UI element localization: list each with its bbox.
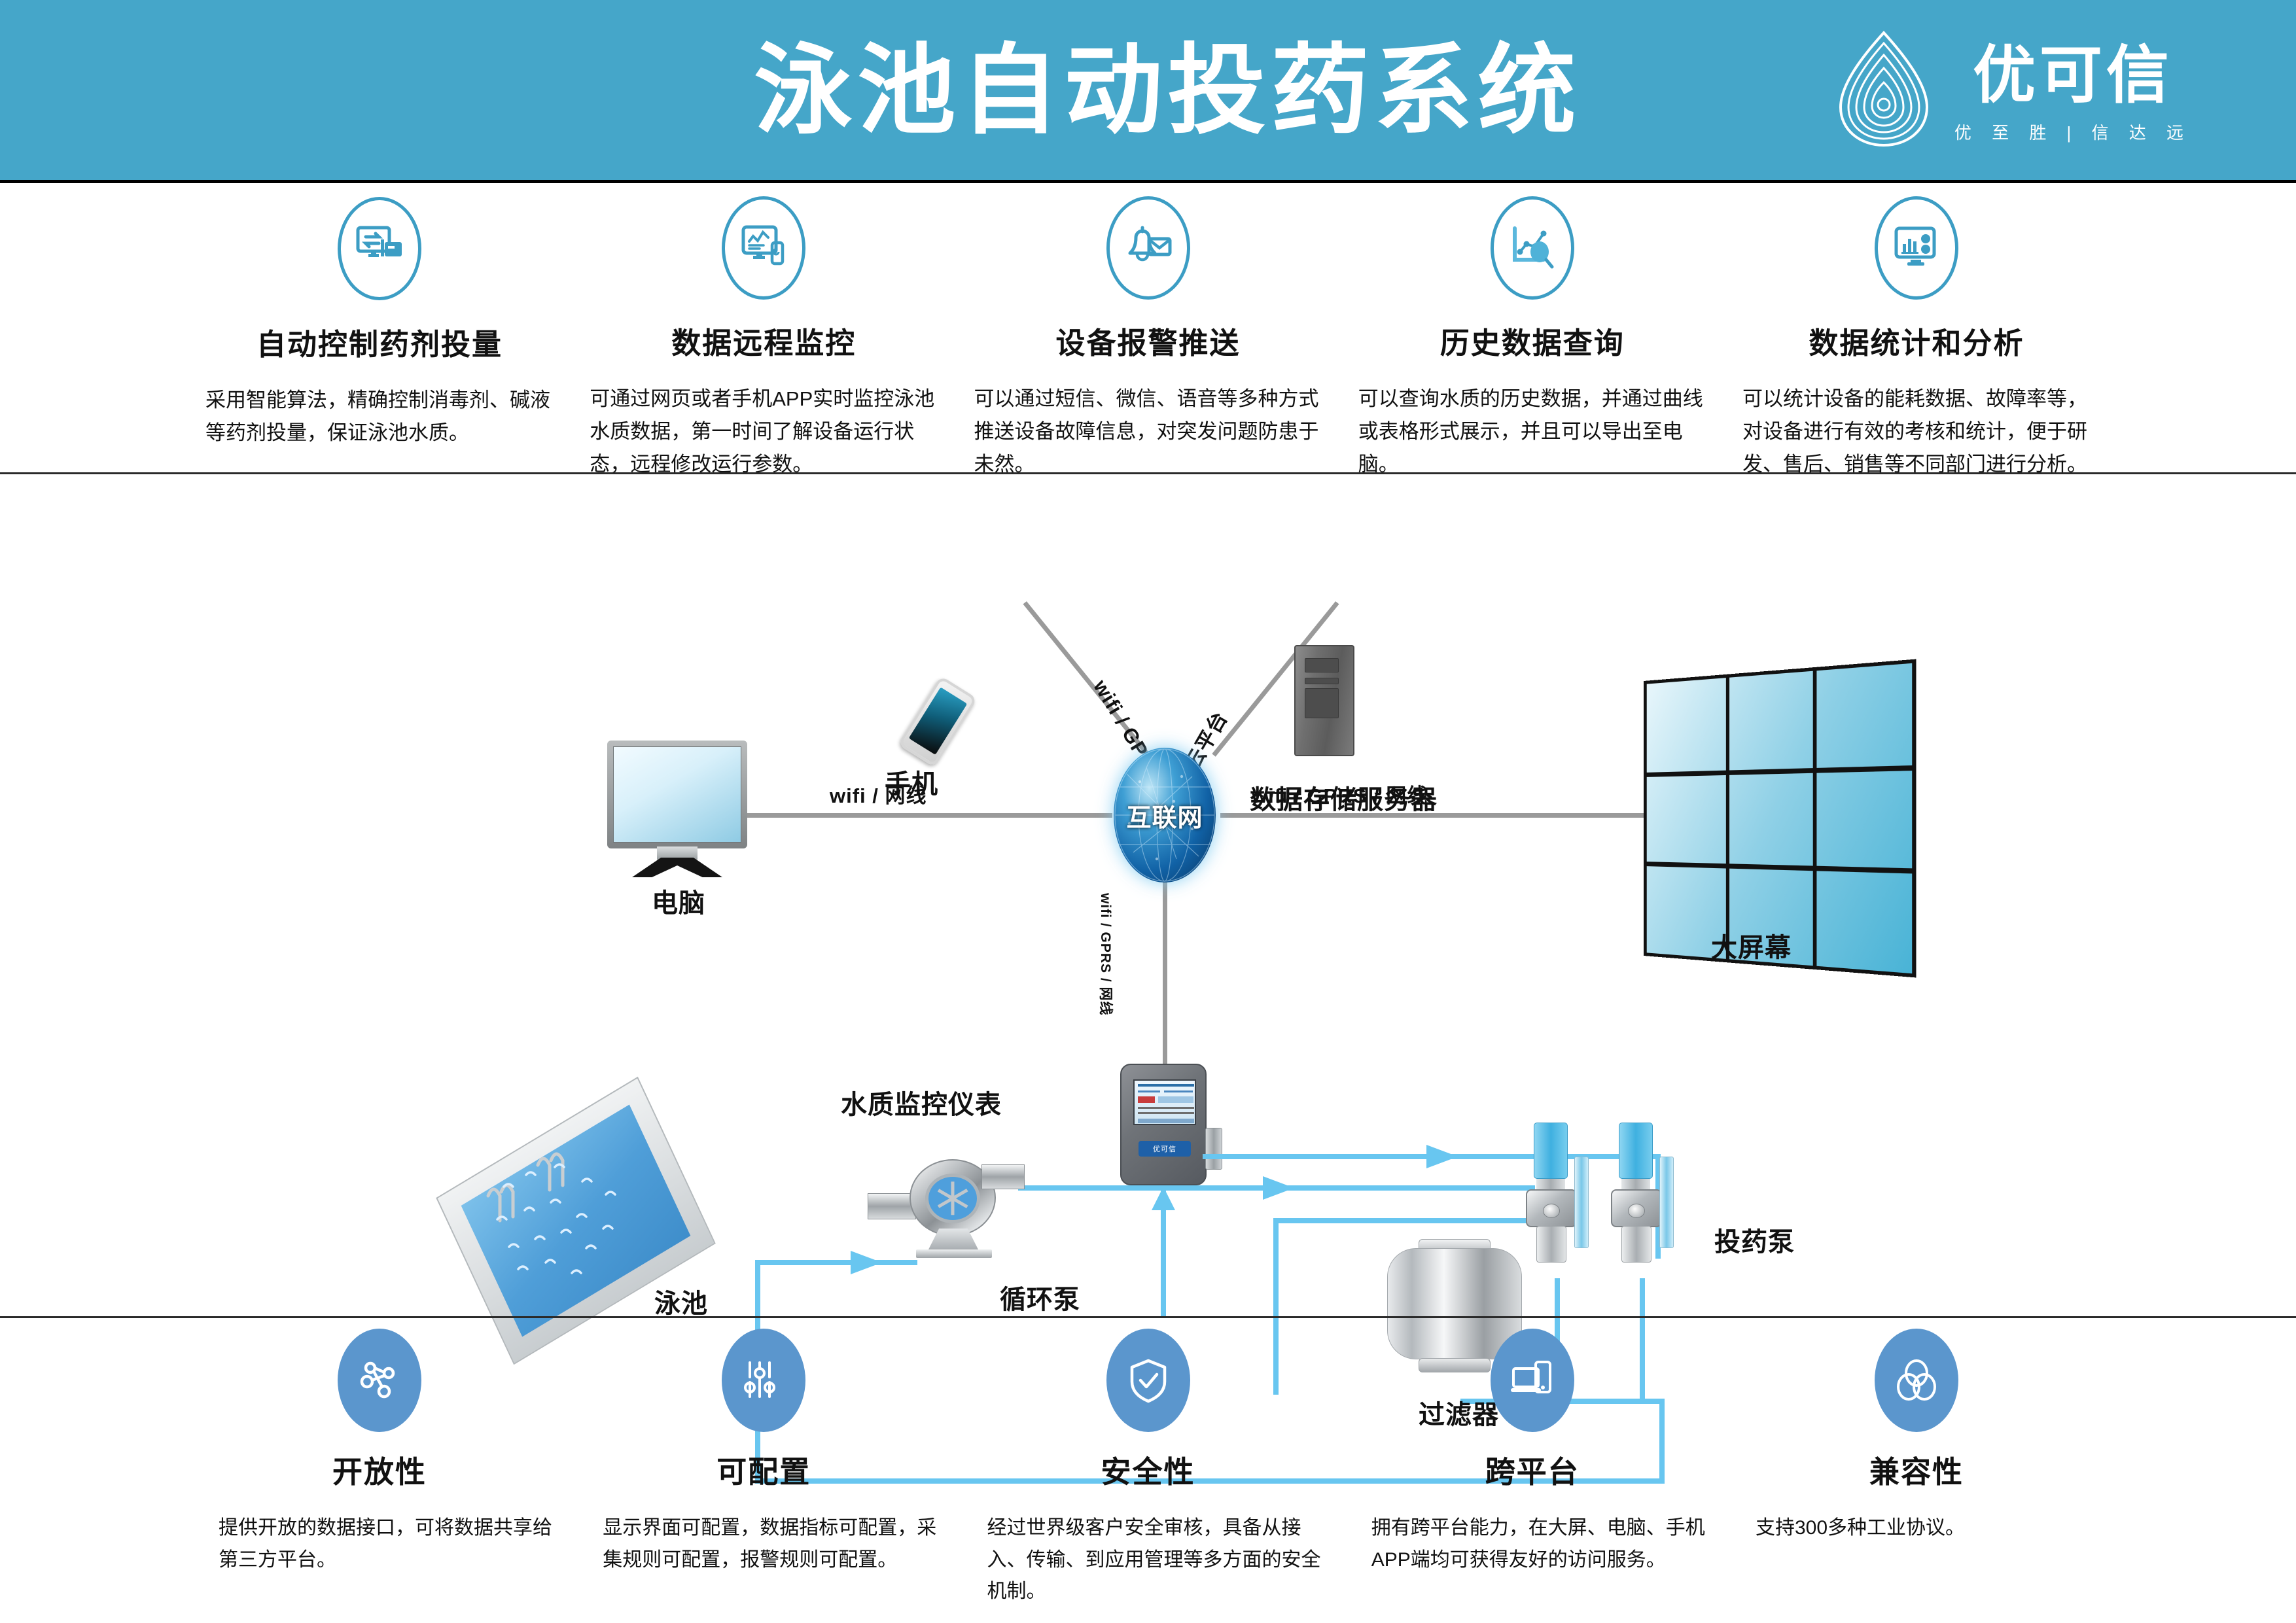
feature-desc: 显示界面可配置，数据指标可配置，采集规则可配置，报警规则可配置。 xyxy=(580,1512,947,1576)
feature-title: 开放性 xyxy=(332,1448,427,1492)
feature-icon-wrap xyxy=(1490,1328,1575,1433)
computer-monitor-device xyxy=(607,741,747,878)
feature-remote-monitoring: 数据远程监控 可通过网页或者手机APP实时监控泳池水质数据，第一时间了解设备运行… xyxy=(580,196,947,471)
feature-title: 自动控制药剂投量 xyxy=(256,321,503,363)
feature-icon-wrap xyxy=(337,1328,422,1433)
node-label-pool: 泳池 xyxy=(654,1282,708,1320)
feature-configurable: 可配置 显示界面可配置，数据指标可配置，采集规则可配置，报警规则可配置。 xyxy=(580,1328,947,1616)
feature-auto-dosing: 自动控制药剂投量 采用智能算法，精确控制消毒剂、碱液等药剂投量，保证泳池水质。 xyxy=(196,196,563,471)
pipe-filter-inlet xyxy=(1273,1218,1535,1223)
feature-title: 设备报警推送 xyxy=(1055,319,1240,362)
data-server-device xyxy=(1294,645,1354,756)
bell-mail-icon xyxy=(1123,223,1174,273)
feature-title: 可配置 xyxy=(716,1448,811,1492)
feature-icon-wrap xyxy=(721,1328,806,1433)
node-label-computer: 电脑 xyxy=(652,882,705,920)
feature-security: 安全性 经过世界级客户安全审核，具备从接入、传输、到应用管理等多方面的安全机制。 xyxy=(965,1328,1332,1616)
smartphone-device xyxy=(898,676,978,767)
feature-openness: 开放性 提供开放的数据接口，可将数据共享给第三方平台。 xyxy=(196,1328,563,1616)
feature-title: 兼容性 xyxy=(1869,1448,1964,1492)
feature-desc: 支持300多种工业协议。 xyxy=(1733,1512,2100,1544)
node-label-dosing-pump: 投药泵 xyxy=(1714,1221,1795,1259)
link-label-meter: wifi / GPRS / 网线 xyxy=(1097,893,1116,1016)
feature-icon-wrap xyxy=(1106,1328,1191,1433)
node-label-circulation-pump: 循环泵 xyxy=(1000,1278,1080,1316)
node-label-internet: 互联网 xyxy=(1126,797,1203,833)
brand-slogan: 优 至 胜 | 信 达 远 xyxy=(1954,120,2191,144)
section-divider-bottom xyxy=(0,1316,2296,1318)
video-wall-device xyxy=(1644,681,1892,956)
feature-statistics: 数据统计和分析 可以统计设备的能耗数据、故障率等，对设备进行有效的考核和统计，便… xyxy=(1733,196,2100,471)
poster-root: 泳池自动投药系统 优可信 优 至 胜 | 信 达 远 xyxy=(0,0,2296,1623)
devices-icon xyxy=(1510,1359,1555,1401)
dosing-pump-device-2 xyxy=(1602,1123,1675,1273)
feature-cross-platform: 跨平台 拥有跨平台能力，在大屏、电脑、手机APP端均可获得友好的访问服务。 xyxy=(1349,1328,1716,1616)
feature-desc: 可通过网页或者手机APP实时监控泳池水质数据，第一时间了解设备运行状态，远程修改… xyxy=(580,383,947,481)
feature-desc: 采用智能算法，精确控制消毒剂、碱液等药剂投量，保证泳池水质。 xyxy=(196,384,563,449)
node-label-meter: 水质监控仪表 xyxy=(841,1083,1002,1121)
meter-brand-badge: 优可信 xyxy=(1139,1141,1191,1157)
meter-display xyxy=(1133,1079,1196,1125)
monitor-exchange-icon xyxy=(354,224,405,273)
connector-computer-internet xyxy=(739,813,1112,818)
pipe-pool-to-pump xyxy=(755,1260,917,1265)
monitor-statistics-icon xyxy=(1891,223,1942,273)
monitor-chart-phone-icon xyxy=(738,223,789,273)
node-label-bigscreen: 大屏幕 xyxy=(1711,926,1792,964)
system-diagram: wifi / GPRS 云平台 wifi / 网线 wifi / GPRS / … xyxy=(0,475,2296,1315)
bottom-feature-row: 开放性 提供开放的数据接口，可将数据共享给第三方平台。 xyxy=(0,1328,2296,1616)
feature-icon-wrap xyxy=(1490,196,1575,300)
feature-alarm-push: 设备报警推送 可以通过短信、微信、语音等多种方式推送设备故障信息，对突发问题防患… xyxy=(965,196,1332,471)
shield-check-icon xyxy=(1127,1357,1169,1404)
feature-title: 跨平台 xyxy=(1485,1448,1580,1492)
feature-desc: 可以通过短信、微信、语音等多种方式推送设备故障信息，对突发问题防患于未然。 xyxy=(965,383,1332,481)
internet-globe-node: 互联网 xyxy=(1114,748,1216,882)
brand-name: 优可信 xyxy=(1973,43,2173,109)
venn-circles-icon xyxy=(1894,1357,1939,1404)
share-nodes-icon xyxy=(358,1359,401,1402)
feature-title: 数据远程监控 xyxy=(671,319,856,362)
feature-desc: 可以查询水质的历史数据，并通过曲线或表格形式展示，并且可以导出至电脑。 xyxy=(1349,383,1716,481)
section-divider-top xyxy=(0,472,2296,474)
dosing-pump-device-1 xyxy=(1517,1123,1590,1273)
top-feature-row: 自动控制药剂投量 采用智能算法，精确控制消毒剂、碱液等药剂投量，保证泳池水质。 xyxy=(0,196,2296,471)
water-drop-fingerprint-icon xyxy=(1831,26,1936,150)
node-label-server: 数据存储服务器 xyxy=(1250,778,1438,816)
brand-logo: 优可信 优 至 胜 | 信 达 远 xyxy=(1831,26,2191,150)
feature-icon-wrap xyxy=(1874,196,1959,300)
pipe-meter-inlet-vertical xyxy=(1161,1185,1166,1316)
pool-ripples xyxy=(478,1147,674,1298)
history-chart-search-icon xyxy=(1507,223,1558,273)
page-title: 泳池自动投药系统 xyxy=(754,41,1581,139)
water-quality-meter-device: 优可信 xyxy=(1120,1064,1207,1185)
feature-icon-wrap xyxy=(337,196,422,301)
feature-icon-wrap xyxy=(721,196,806,300)
feature-desc: 经过世界级客户安全审核，具备从接入、传输、到应用管理等多方面的安全机制。 xyxy=(965,1512,1332,1608)
node-label-phone: 手机 xyxy=(885,763,938,801)
feature-title: 历史数据查询 xyxy=(1440,319,1625,362)
circulation-pump-device xyxy=(890,1159,1025,1257)
feature-desc: 拥有跨平台能力，在大屏、电脑、手机APP端均可获得友好的访问服务。 xyxy=(1349,1512,1716,1576)
pipe-pump-to-right xyxy=(1018,1185,1535,1191)
feature-history-query: 历史数据查询 可以查询水质的历史数据，并通过曲线或表格形式展示，并且可以导出至电… xyxy=(1349,196,1716,471)
sliders-icon xyxy=(742,1357,785,1403)
feature-title: 安全性 xyxy=(1101,1448,1195,1492)
page-header: 泳池自动投药系统 优可信 优 至 胜 | 信 达 远 xyxy=(0,0,2296,183)
feature-icon-wrap xyxy=(1106,196,1191,300)
meter-valve-icon xyxy=(1205,1128,1222,1170)
feature-icon-wrap xyxy=(1874,1328,1959,1433)
feature-title: 数据统计和分析 xyxy=(1809,319,2024,362)
feature-desc: 可以统计设备的能耗数据、故障率等，对设备进行有效的考核和统计，便于研发、售后、销… xyxy=(1733,383,2100,481)
feature-desc: 提供开放的数据接口，可将数据共享给第三方平台。 xyxy=(196,1512,563,1576)
feature-compatibility: 兼容性 支持300多种工业协议。 xyxy=(1733,1328,2100,1616)
pipe-meter-to-top-right xyxy=(1203,1154,1661,1159)
